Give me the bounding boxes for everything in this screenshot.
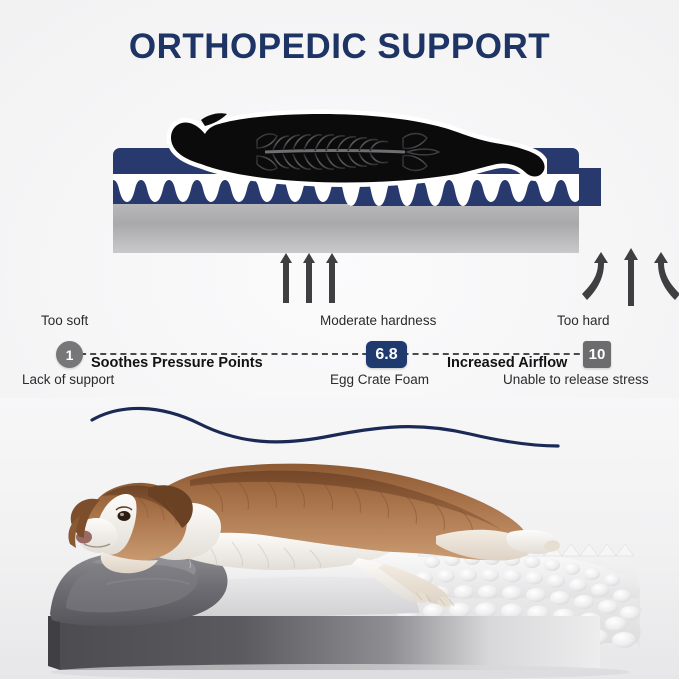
mattress-cross-section-diagram: Soothes Pressure Points Increased Airflo…	[0, 100, 679, 260]
scale-label-too-hard: Too hard	[557, 313, 610, 328]
dog-silhouette-xray	[157, 106, 547, 200]
scale-marker-min: 1	[56, 341, 83, 368]
scale-label-egg-crate-foam: Egg Crate Foam	[330, 372, 429, 387]
infographic-page: ORTHOPEDIC SUPPORT	[0, 0, 679, 679]
scale-dashed-line	[70, 353, 610, 355]
dog-on-bed	[40, 440, 600, 620]
page-title: ORTHOPEDIC SUPPORT	[0, 27, 679, 67]
scale-label-too-soft: Too soft	[41, 313, 88, 328]
mattress-illustration	[113, 148, 579, 253]
scale-label-moderate-hardness: Moderate hardness	[320, 313, 436, 328]
scale-label-unable-to-release-stress: Unable to release stress	[503, 372, 649, 387]
airflow-arrows	[581, 248, 679, 306]
hardness-scale: Too soft Moderate hardness Too hard 1 6.…	[0, 305, 679, 390]
scale-marker-max: 10	[583, 341, 611, 368]
product-photo	[0, 398, 679, 679]
scale-label-lack-of-support: Lack of support	[22, 372, 114, 387]
scale-marker-current: 6.8	[366, 341, 407, 368]
pressure-point-arrows	[278, 253, 348, 303]
